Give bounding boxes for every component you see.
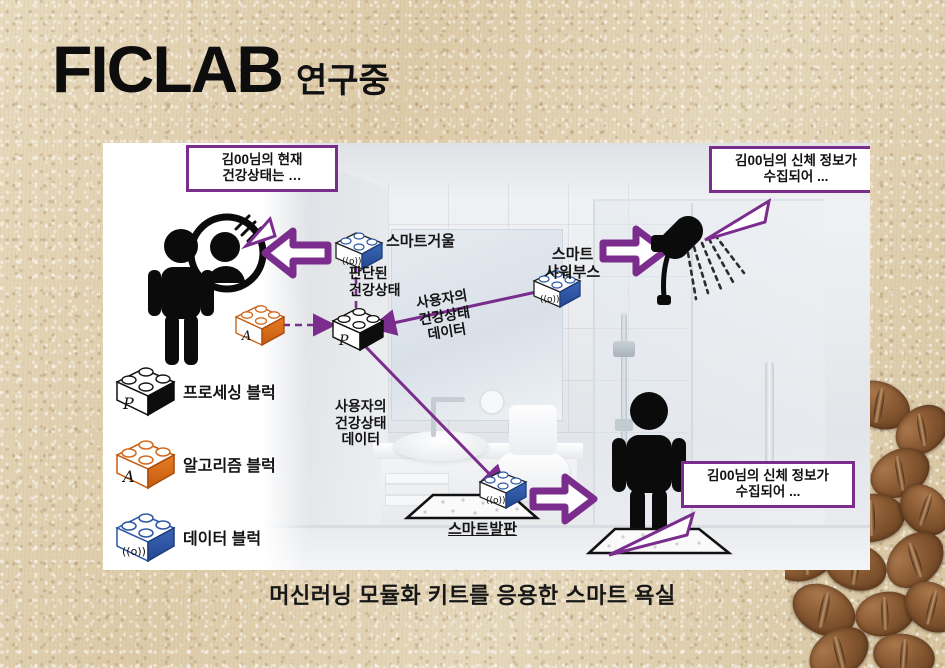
legend-label-algorithm: 알고리즘 블럭	[183, 452, 276, 476]
legend-label-data: 데이터 블럭	[183, 525, 261, 549]
scene-algorithm-brick-icon: A	[232, 303, 286, 345]
figure-panel: ((o)) ((o)) ((o)) A	[103, 143, 870, 570]
page-title: FICLAB 연구중	[52, 36, 390, 102]
processing-brick-icon: P	[112, 365, 176, 415]
label-smart-shower-booth: 스마트 샤워부스	[545, 246, 600, 281]
legend-label-processing: 프로세싱 블럭	[183, 379, 276, 403]
shower-bubble: 김00님의 신체 정보가 수집되어 ...	[709, 146, 870, 193]
smart-mat-brick-icon: ((o))	[476, 470, 528, 508]
bubble-tail-mat	[601, 511, 701, 561]
svg-text:((o)): ((o))	[122, 545, 146, 558]
bubble-tail-shower	[699, 198, 779, 244]
data-brick-icon: ((o))	[112, 511, 176, 561]
svg-text:P: P	[122, 394, 134, 413]
scene-processing-brick-icon: P	[329, 306, 385, 350]
svg-text:((o)): ((o))	[540, 295, 560, 305]
figure-caption: 머신러닝 모듈화 키트를 응용한 스마트 욕실	[0, 578, 945, 610]
svg-text:A: A	[121, 467, 135, 486]
label-judged-health: 판단된 건강상태	[349, 265, 401, 298]
mirror-bubble: 김00님의 현재 건강상태는 …	[186, 145, 338, 192]
smart-mirror-brick-icon: ((o))	[332, 231, 384, 269]
svg-text:A: A	[241, 329, 251, 344]
status-label: 연구중	[296, 64, 390, 98]
algorithm-brick-icon: A	[112, 438, 176, 488]
mat-bubble: 김00님의 신체 정보가 수집되어 ...	[681, 461, 855, 508]
label-user-health-data-right: 사용자의 건강상태 데이터	[415, 287, 474, 344]
label-user-health-data-left: 사용자의 건강상태 데이터	[335, 398, 387, 448]
label-smart-mirror: 스마트거울	[386, 233, 455, 251]
svg-text:P: P	[338, 333, 349, 349]
svg-text:((o)): ((o))	[486, 496, 506, 506]
label-smart-foot-mat: 스마트발판	[448, 521, 517, 539]
arrow-mat-to-person	[533, 477, 594, 521]
brand-name: FICLAB	[52, 36, 282, 102]
